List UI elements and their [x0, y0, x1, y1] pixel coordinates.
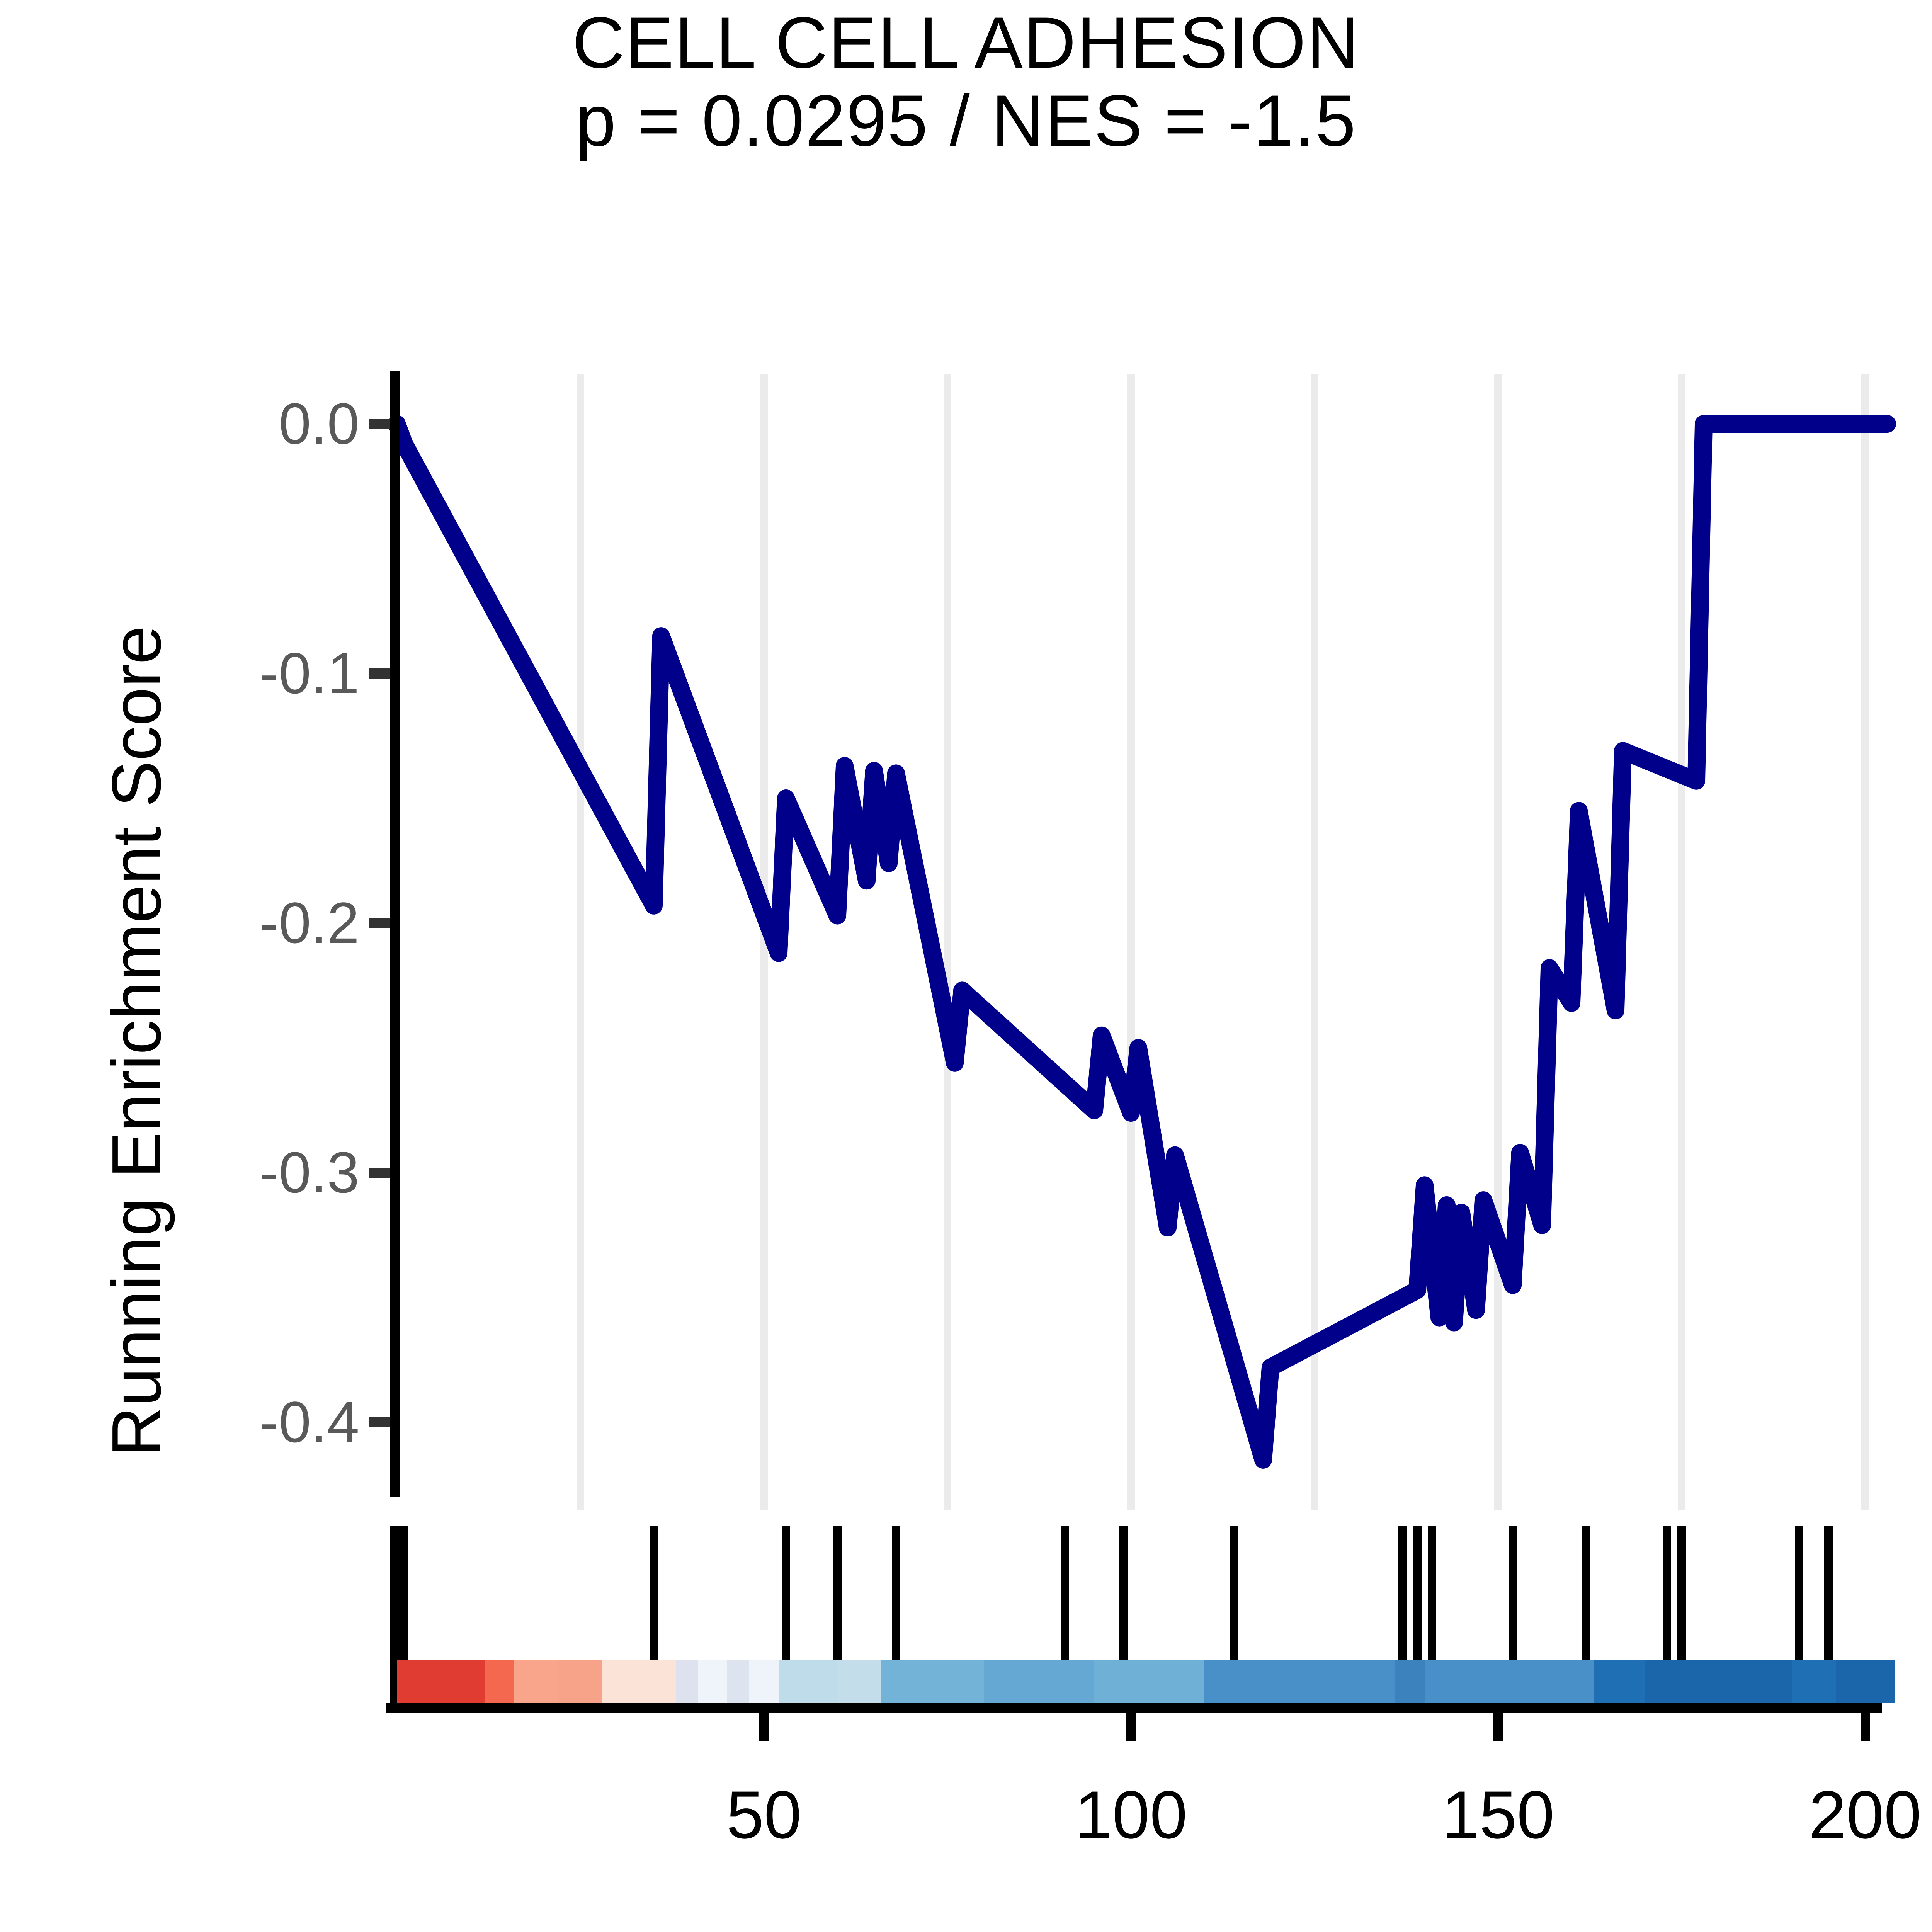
gene-hit-tick [782, 1526, 790, 1660]
colorbar-band [984, 1660, 1095, 1703]
colorbar-band [514, 1660, 559, 1703]
colorbar-band [558, 1660, 603, 1703]
ranking-metric-colorbar [397, 1660, 1904, 1703]
gene-hit-tick [400, 1526, 408, 1660]
y-axis-tick-label: -0.1 [120, 644, 359, 702]
gene-hit-tick [1795, 1526, 1803, 1660]
gene-hit-tick [1509, 1526, 1517, 1660]
gene-hit-tick [650, 1526, 658, 1660]
x-axis-tick-label: 200 [1769, 1781, 1932, 1849]
gene-hit-tick [1677, 1526, 1686, 1660]
y-axis-tick-label: -0.4 [120, 1393, 359, 1451]
plot-title-block: CELL CELL ADHESION p = 0.0295 / NES = -1… [0, 4, 1932, 160]
y-axis-tick [369, 918, 390, 928]
enrichment-curve [397, 374, 1904, 1510]
gene-hit-tick [1582, 1526, 1590, 1660]
colorbar-band [1513, 1660, 1594, 1703]
colorbar-band [1704, 1660, 1792, 1703]
colorbar-band [397, 1660, 485, 1703]
y-axis-tick [369, 1168, 390, 1178]
gsea-enrichment-plot: CELL CELL ADHESION p = 0.0295 / NES = -1… [0, 0, 1932, 1932]
x-axis-tick-label: 50 [667, 1781, 861, 1849]
colorbar-band [779, 1660, 838, 1703]
colorbar-band [602, 1660, 676, 1703]
colorbar-band [1645, 1660, 1704, 1703]
colorbar-band [837, 1660, 882, 1703]
enrichment-score-panel [397, 374, 1904, 1510]
plot-subtitle: p = 0.0295 / NES = -1.5 [0, 81, 1932, 160]
gene-hit-tick [892, 1526, 900, 1660]
x-axis-tick-label: 100 [1034, 1781, 1228, 1849]
gene-hit-tick [1119, 1526, 1128, 1660]
colorbar-band [881, 1660, 985, 1703]
colorbar-band [1594, 1660, 1645, 1703]
x-axis-line [386, 1703, 1882, 1713]
x-axis-tick-label: 150 [1401, 1781, 1595, 1849]
colorbar-band [1425, 1660, 1513, 1703]
gene-hit-tick [1824, 1526, 1833, 1660]
colorbar-band [676, 1660, 698, 1703]
x-axis-tick [1493, 1713, 1503, 1741]
colorbar-band [1836, 1660, 1895, 1703]
y-axis-line [390, 371, 400, 1497]
colorbar-band [1792, 1660, 1836, 1703]
gene-hit-tick [833, 1526, 842, 1660]
gene-hit-tick [1230, 1526, 1238, 1660]
gene-hit-ticks-panel [397, 1526, 1904, 1660]
colorbar-band [485, 1660, 515, 1703]
colorbar-band [1094, 1660, 1205, 1703]
y-axis-label: Running Enrichment Score [97, 626, 177, 1457]
colorbar-band [727, 1660, 750, 1703]
gene-hit-tick [1428, 1526, 1436, 1660]
enrichment-score-line [397, 424, 1887, 1460]
y-axis-tick [369, 1417, 390, 1427]
gene-hit-tick [1061, 1526, 1069, 1660]
y-axis-tick [369, 668, 390, 679]
gene-hit-tick [1398, 1526, 1407, 1660]
page-title: CELL CELL ADHESION [0, 4, 1932, 81]
y-axis-tick-label: -0.2 [120, 894, 359, 952]
x-axis-tick [759, 1713, 769, 1741]
gene-hit-tick [1663, 1526, 1671, 1660]
colorbar-band [1204, 1660, 1396, 1703]
x-axis-tick [1861, 1713, 1870, 1741]
x-axis-tick [1126, 1713, 1136, 1741]
colorbar-band [749, 1660, 779, 1703]
y-axis-tick-label: -0.3 [120, 1143, 359, 1201]
y-axis-tick-label: 0.0 [120, 395, 359, 452]
colorbar-band [698, 1660, 728, 1703]
colorbar-band [1395, 1660, 1425, 1703]
gene-hit-tick [1413, 1526, 1422, 1660]
y-axis-tick [369, 419, 390, 429]
